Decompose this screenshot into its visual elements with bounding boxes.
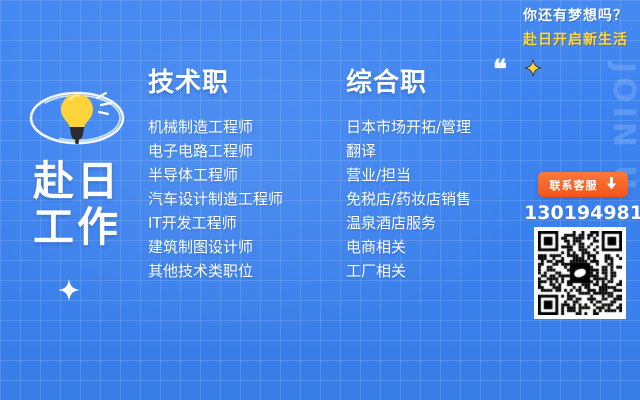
brand-line-2: 工作 [18, 204, 136, 250]
quote-mark-icon: ❝ [493, 57, 507, 83]
qr-code[interactable] [534, 227, 626, 319]
job-list-tech: 机械制造工程师 电子电路工程师 半导体工程师 汽车设计制造工程师 IT开发工程师… [148, 115, 283, 283]
list-item: 工厂相关 [346, 259, 471, 283]
list-item: 建筑制图设计师 [148, 235, 283, 259]
lightbulb-icon [22, 84, 132, 150]
slogan-line-2: 赴日开启新生活 [523, 30, 628, 50]
list-item: 温泉酒店服务 [346, 211, 471, 235]
sparkle-star-icon [58, 279, 80, 305]
list-item: IT开发工程师 [148, 211, 283, 235]
sparkle-star-yellow-icon [524, 59, 542, 81]
job-list-general: 日本市场开拓/管理 翻译 营业/担当 免税店/药妆店销售 温泉酒店服务 电商相关… [346, 115, 471, 283]
poster-canvas: 赴日 工作 技术职 机械制造工程师 电子电路工程师 半导体工程师 汽车设计制造工… [0, 0, 640, 400]
column-title-general: 综合职 [346, 62, 471, 99]
slogan-line-1: 你还有梦想吗？ [523, 6, 628, 26]
list-item: 半导体工程师 [148, 163, 283, 187]
list-item: 免税店/药妆店销售 [346, 187, 471, 211]
brand-block: 赴日 工作 [18, 84, 136, 250]
column-title-tech: 技术职 [148, 62, 283, 99]
list-item: 电商相关 [346, 235, 471, 259]
list-item: 日本市场开拓/管理 [346, 115, 471, 139]
job-column-general: 综合职 日本市场开拓/管理 翻译 营业/担当 免税店/药妆店销售 温泉酒店服务 … [346, 62, 471, 283]
list-item: 汽车设计制造工程师 [148, 187, 283, 211]
phone-number[interactable]: 13019498186 [524, 202, 634, 224]
list-item: 翻译 [346, 139, 471, 163]
list-item: 电子电路工程师 [148, 139, 283, 163]
brand-line-1: 赴日 [18, 158, 136, 204]
list-item: 其他技术类职位 [148, 259, 283, 283]
contact-button-label: 联系客服 [550, 177, 598, 193]
list-item: 机械制造工程师 [148, 115, 283, 139]
contact-service-button[interactable]: 联系客服 [538, 172, 628, 197]
arrow-down-icon [606, 175, 617, 194]
list-item: 营业/担当 [346, 163, 471, 187]
slogan-block: 你还有梦想吗？ 赴日开启新生活 [523, 6, 628, 50]
job-column-tech: 技术职 机械制造工程师 电子电路工程师 半导体工程师 汽车设计制造工程师 IT开… [148, 62, 283, 283]
